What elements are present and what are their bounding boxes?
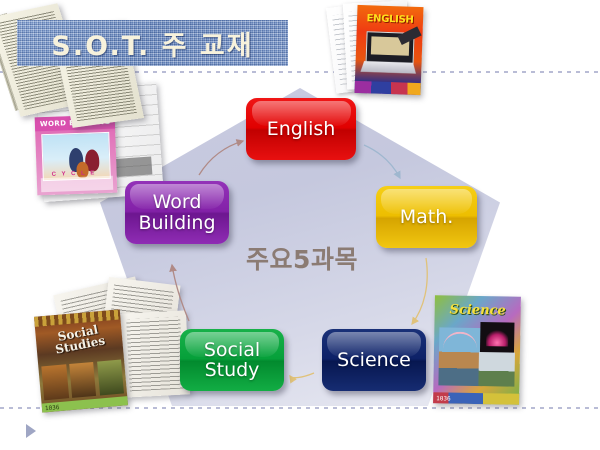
page-title: S.O.T. 주 교재 bbox=[51, 24, 253, 63]
science-cover-firework-art bbox=[480, 322, 515, 355]
subject-label-word-building-line1: Word bbox=[153, 191, 202, 213]
social-studies-cover-code: 1036 bbox=[45, 404, 60, 412]
slide-canvas: WORD BUILDING C Y C L E ENGLISH Science … bbox=[0, 0, 600, 450]
subject-label-english: English bbox=[267, 119, 336, 139]
word-building-cover-footer bbox=[41, 176, 113, 193]
title-banner: S.O.T. 주 교재 bbox=[17, 20, 288, 66]
subject-box-science[interactable]: Science bbox=[322, 329, 426, 391]
subject-label-social-study-line2: Study bbox=[205, 359, 260, 381]
subject-label-social-study: Social Study bbox=[204, 340, 260, 380]
play-triangle-icon[interactable] bbox=[26, 424, 36, 438]
subject-box-word-building[interactable]: Word Building bbox=[125, 181, 229, 244]
science-cover-title: Science bbox=[435, 302, 521, 318]
subject-label-math: Math. bbox=[400, 207, 454, 227]
science-book-cover-photo: Science 1036 bbox=[433, 295, 521, 404]
subject-box-social-study[interactable]: Social Study bbox=[180, 329, 284, 391]
subject-label-word-building: Word Building bbox=[138, 192, 215, 232]
social-studies-cover-art-left bbox=[41, 364, 69, 400]
social-studies-cover-art-mid bbox=[69, 362, 96, 398]
subject-label-science: Science bbox=[337, 350, 411, 370]
english-cover-keyboard-art bbox=[360, 61, 415, 74]
subject-box-math[interactable]: Math. bbox=[376, 186, 477, 248]
english-book-cover-photo: ENGLISH bbox=[354, 5, 423, 95]
science-cover-code: 1036 bbox=[436, 395, 451, 402]
english-cover-title: ENGLISH bbox=[357, 13, 423, 26]
subject-label-social-study-line1: Social bbox=[204, 339, 260, 361]
english-cover-footer-strip bbox=[354, 81, 420, 95]
social-studies-cover-art-right bbox=[97, 360, 124, 396]
center-caption: 주요5과목 bbox=[222, 240, 382, 276]
subject-box-english[interactable]: English bbox=[246, 98, 356, 160]
word-building-cover-art: C Y C L E bbox=[41, 132, 111, 181]
subject-label-word-building-line2: Building bbox=[138, 212, 215, 234]
social-studies-book-cover-photo: Social Studies 1036 bbox=[34, 309, 128, 412]
science-cover-landscape-art bbox=[478, 352, 515, 387]
science-cover-harbor-art bbox=[438, 327, 483, 386]
